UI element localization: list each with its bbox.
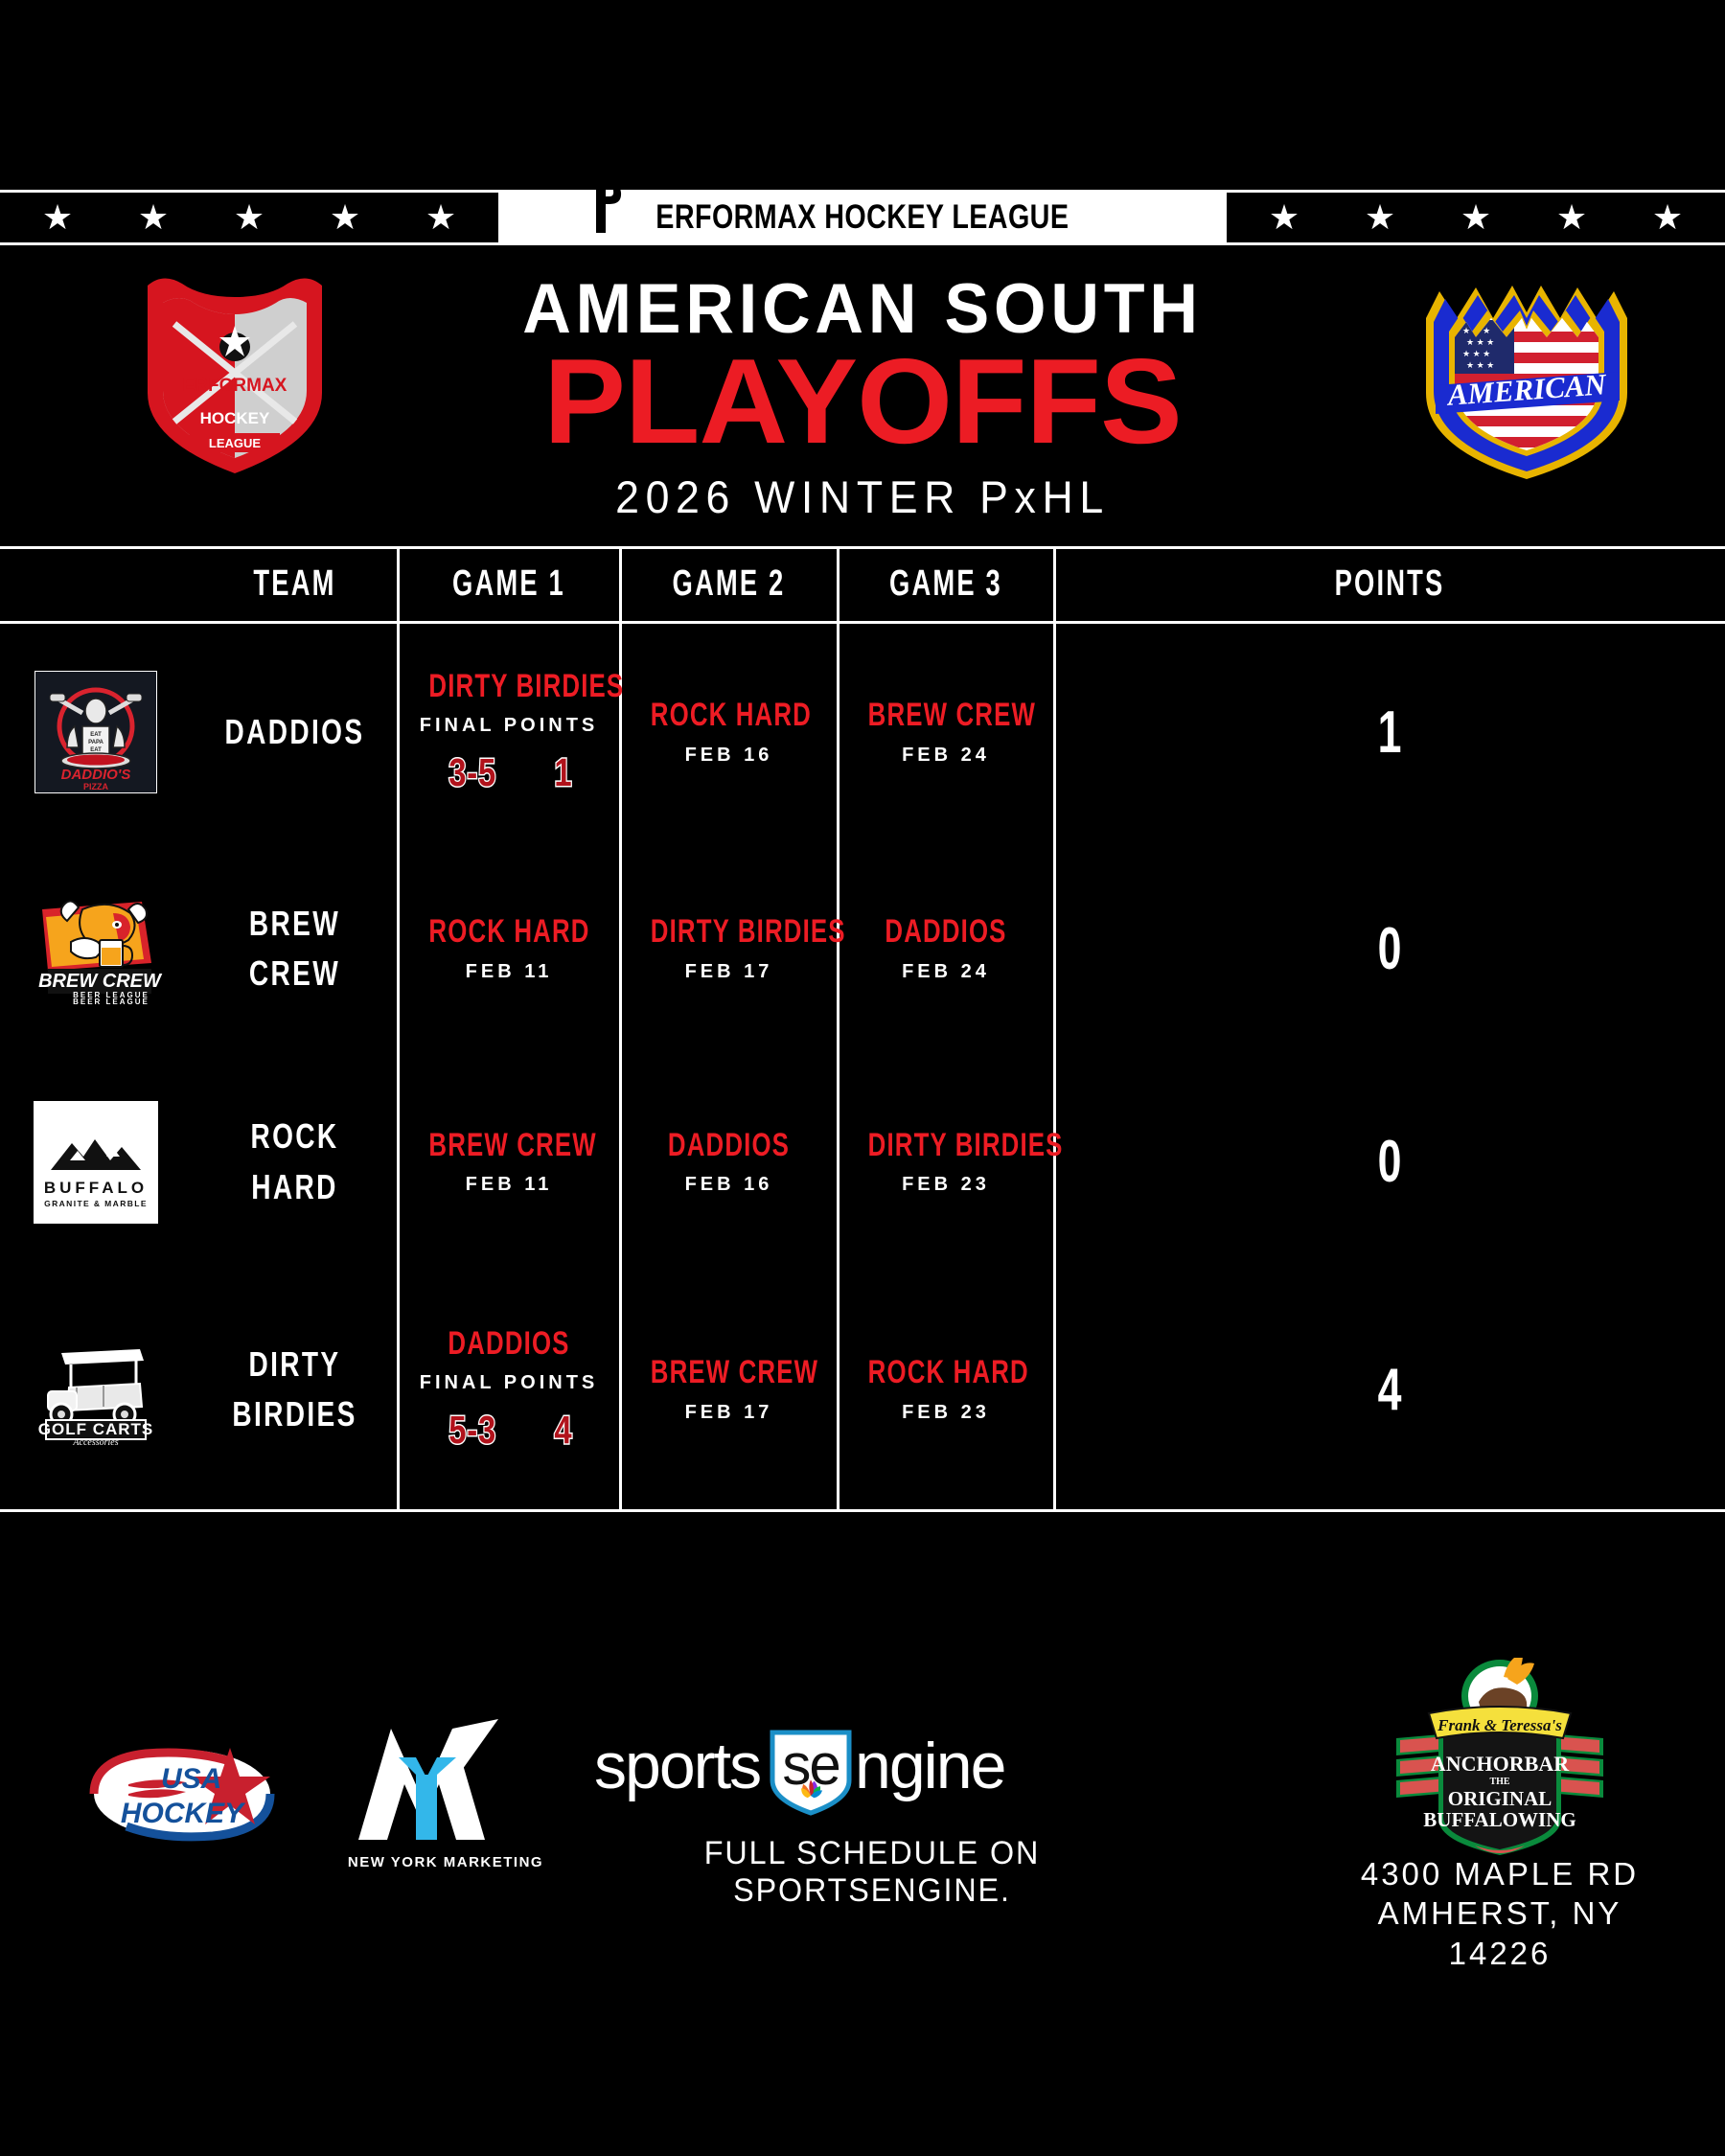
team-name-line1: DIRTY xyxy=(215,1340,376,1389)
table-header-row: TEAM GAME 1 GAME 2 GAME 3 POINTS xyxy=(0,546,1725,621)
stars-left-group: ★ ★ ★ ★ ★ xyxy=(0,193,498,242)
golf-carts-accessories-logo: GOLF CARTS Accessories xyxy=(29,1332,163,1447)
game3-cell: DADDIOS FEB 24 xyxy=(838,914,1054,982)
svg-text:★ ★ ★: ★ ★ ★ xyxy=(1466,337,1494,347)
svg-text:★ ★ ★: ★ ★ ★ xyxy=(1466,360,1494,370)
svg-text:USA: USA xyxy=(161,1763,221,1795)
team-name: DADDIOS xyxy=(215,707,376,757)
team-points: 4 xyxy=(1148,1356,1631,1424)
svg-text:BUFFALO: BUFFALO xyxy=(44,1179,148,1197)
column-header-game2: GAME 2 xyxy=(651,563,807,605)
game-opponent: BREW CREW xyxy=(428,1128,588,1163)
star-icon: ★ xyxy=(330,200,360,235)
star-icon: ★ xyxy=(1460,200,1491,235)
svg-text:DADDIO'S: DADDIO'S xyxy=(61,767,131,783)
svg-text:BEER LEAGUE: BEER LEAGUE xyxy=(73,998,149,1005)
anchor-bar-top-text: Frank & Teressa's xyxy=(1437,1716,1562,1734)
svg-text:HOCKEY: HOCKEY xyxy=(121,1798,246,1829)
svg-text:sports: sports xyxy=(594,1730,760,1802)
game-score-line: 3-5 1 xyxy=(403,750,614,795)
game-opponent: DADDIOS xyxy=(428,1326,588,1362)
star-icon: ★ xyxy=(1365,200,1395,235)
svg-text:EAT: EAT xyxy=(90,747,102,753)
game-opponent: DIRTY BIRDIES xyxy=(651,914,807,950)
anchor-bar-line4: BUFFALOWING xyxy=(1423,1808,1575,1831)
svg-text:GRANITE & MARBLE: GRANITE & MARBLE xyxy=(44,1199,148,1208)
team-logo-cell: BUFFALO GRANITE & MARBLE xyxy=(0,1101,192,1224)
game-opponent: ROCK HARD xyxy=(428,914,588,950)
game-opponent: DIRTY BIRDIES xyxy=(868,1128,1024,1163)
page-subtitle-season: 2026 WINTER PxHL xyxy=(389,470,1336,523)
svg-text:Accessories: Accessories xyxy=(72,1437,118,1447)
star-icon: ★ xyxy=(1556,200,1587,235)
game1-cell: DADDIOS FINAL POINTS 5-3 4 xyxy=(398,1326,620,1453)
page-title-playoffs: PLAYOFFS xyxy=(355,342,1371,460)
star-icon: ★ xyxy=(425,200,456,235)
game-detail: FEB 16 xyxy=(626,745,832,767)
venue-address: 4300 MAPLE RD AMHERST, NY 14226 xyxy=(1327,1854,1672,1973)
schedule-caption: FULL SCHEDULE ON SPORTSENGINE. xyxy=(590,1835,1155,1910)
team-name: BREW CREW xyxy=(215,899,376,998)
game2-cell: ROCK HARD FEB 16 xyxy=(620,698,838,766)
column-header-game3: GAME 3 xyxy=(868,563,1024,605)
column-header-points: POINTS xyxy=(1148,563,1631,605)
game-opponent: ROCK HARD xyxy=(868,1355,1024,1390)
game-score: 5-3 xyxy=(449,1408,497,1453)
table-row: BUFFALO GRANITE & MARBLE ROCK HARD BREW … xyxy=(0,1054,1725,1270)
brew-crew-logo: BREW CREW BEER LEAGUE BEER LEAGUE xyxy=(29,892,163,1005)
team-logo-cell: BREW CREW BEER LEAGUE BEER LEAGUE xyxy=(0,892,192,1005)
game-detail: FEB 16 xyxy=(626,1174,832,1196)
stars-right-group: ★ ★ ★ ★ ★ xyxy=(1227,193,1725,242)
american-conference-shield-icon: ★ ★ ★ ★ ★ ★ ★ ★ ★ ★ ★ ★ AMERICAN xyxy=(1407,278,1646,484)
game3-cell: ROCK HARD FEB 23 xyxy=(838,1355,1054,1423)
table-row: BREW CREW BEER LEAGUE BEER LEAGUE BREW C… xyxy=(0,843,1725,1054)
game3-cell: BREW CREW FEB 24 xyxy=(838,698,1054,766)
team-logo-cell: GOLF CARTS Accessories xyxy=(0,1332,192,1447)
league-banner: ★ ★ ★ ★ ★ ERFORMAX HOCKEY LEAGUE ★ ★ ★ ★… xyxy=(0,190,1725,245)
address-line-2: AMHERST, NY 14226 xyxy=(1327,1893,1672,1973)
svg-text:★ ★ ★: ★ ★ ★ xyxy=(1462,349,1490,358)
buffalo-granite-marble-logo: BUFFALO GRANITE & MARBLE xyxy=(34,1101,158,1224)
column-header-team: TEAM xyxy=(220,563,369,605)
star-icon: ★ xyxy=(234,200,264,235)
star-icon: ★ xyxy=(138,200,169,235)
svg-text:PAPA: PAPA xyxy=(88,740,103,745)
game2-cell: DADDIOS FEB 16 xyxy=(620,1128,838,1196)
game2-cell: DIRTY BIRDIES FEB 17 xyxy=(620,914,838,982)
game-opponent: DIRTY BIRDIES xyxy=(428,669,588,704)
game-opponent: ROCK HARD xyxy=(651,698,807,733)
game-score-line: 5-3 4 xyxy=(403,1408,614,1453)
team-name: DIRTY BIRDIES xyxy=(215,1340,376,1439)
game-opponent: DADDIOS xyxy=(651,1128,807,1163)
sportsengine-logo: sports se ngine xyxy=(585,1725,1160,1821)
star-icon: ★ xyxy=(1269,200,1299,235)
game-detail: FINAL POINTS xyxy=(403,1372,614,1394)
game-detail: FINAL POINTS xyxy=(403,715,614,737)
star-icon: ★ xyxy=(42,200,73,235)
table-row: GOLF CARTS Accessories DIRTY BIRDIES DAD… xyxy=(0,1270,1725,1509)
game1-cell: BREW CREW FEB 11 xyxy=(398,1128,620,1196)
team-name: ROCK HARD xyxy=(215,1112,376,1211)
team-name-line2: BIRDIES xyxy=(215,1389,376,1439)
team-points: 0 xyxy=(1148,1128,1631,1196)
performax-p-icon xyxy=(583,172,629,233)
game-detail: FEB 23 xyxy=(843,1174,1048,1196)
game-detail: FEB 17 xyxy=(626,961,832,983)
table-row: EAT PAPA EAT DADDIO'S PIZZA DADDIOS DIRT… xyxy=(0,621,1725,843)
game-points-earned: 4 xyxy=(554,1408,572,1453)
star-icon: ★ xyxy=(1652,200,1683,235)
playoffs-graphic: ★ ★ ★ ★ ★ ERFORMAX HOCKEY LEAGUE ★ ★ ★ ★… xyxy=(0,0,1725,2156)
game1-cell: ROCK HARD FEB 11 xyxy=(398,914,620,982)
svg-text:ngine: ngine xyxy=(855,1730,1004,1802)
usa-hockey-logo: USA HOCKEY xyxy=(86,1734,278,1849)
league-name-plate: ERFORMAX HOCKEY LEAGUE xyxy=(498,193,1227,242)
game-score: 3-5 xyxy=(449,750,497,795)
anchor-bar-line3: ORIGINAL xyxy=(1448,1787,1552,1810)
game-detail: FEB 24 xyxy=(843,961,1048,983)
svg-text:PIZZA: PIZZA xyxy=(83,782,108,791)
game-detail: FEB 11 xyxy=(403,1174,614,1196)
svg-text:EAT: EAT xyxy=(90,732,102,738)
game3-cell: DIRTY BIRDIES FEB 23 xyxy=(838,1128,1054,1196)
anchor-bar-line2: THE xyxy=(1489,1777,1509,1787)
game1-cell: DIRTY BIRDIES FINAL POINTS 3-5 1 xyxy=(398,669,620,795)
game-opponent: DADDIOS xyxy=(868,914,1024,950)
address-line-1: 4300 MAPLE RD xyxy=(1327,1854,1672,1893)
column-header-game1: GAME 1 xyxy=(428,563,588,605)
game-opponent: BREW CREW xyxy=(651,1355,807,1390)
game-detail: FEB 17 xyxy=(626,1402,832,1424)
team-logo-cell: EAT PAPA EAT DADDIO'S PIZZA xyxy=(0,671,192,793)
league-name-text: ERFORMAX HOCKEY LEAGUE xyxy=(655,198,1069,237)
team-points: 0 xyxy=(1148,915,1631,983)
svg-text:GOLF CARTS: GOLF CARTS xyxy=(38,1420,154,1438)
playoffs-table: TEAM GAME 1 GAME 2 GAME 3 POINTS EA xyxy=(0,546,1725,1581)
anchor-bar-logo: Frank & Teressa's ANCHORBAR THE ORIGINAL… xyxy=(1375,1658,1624,1864)
new-york-marketing-logo: NEW YORK MARKETING xyxy=(345,1715,546,1878)
game-opponent: BREW CREW xyxy=(868,698,1024,733)
game-detail: FEB 11 xyxy=(403,961,614,983)
game-detail: FEB 24 xyxy=(843,745,1048,767)
new-york-marketing-label: NEW YORK MARKETING xyxy=(348,1854,543,1870)
game-points-earned: 1 xyxy=(554,750,572,795)
game2-cell: BREW CREW FEB 17 xyxy=(620,1355,838,1423)
game-detail: FEB 23 xyxy=(843,1402,1048,1424)
svg-text:BREW CREW: BREW CREW xyxy=(38,971,163,992)
team-points: 1 xyxy=(1148,699,1631,767)
daddios-pizza-logo: EAT PAPA EAT DADDIO'S PIZZA xyxy=(34,671,157,793)
anchor-bar-line1: ANCHORBAR xyxy=(1431,1752,1570,1776)
